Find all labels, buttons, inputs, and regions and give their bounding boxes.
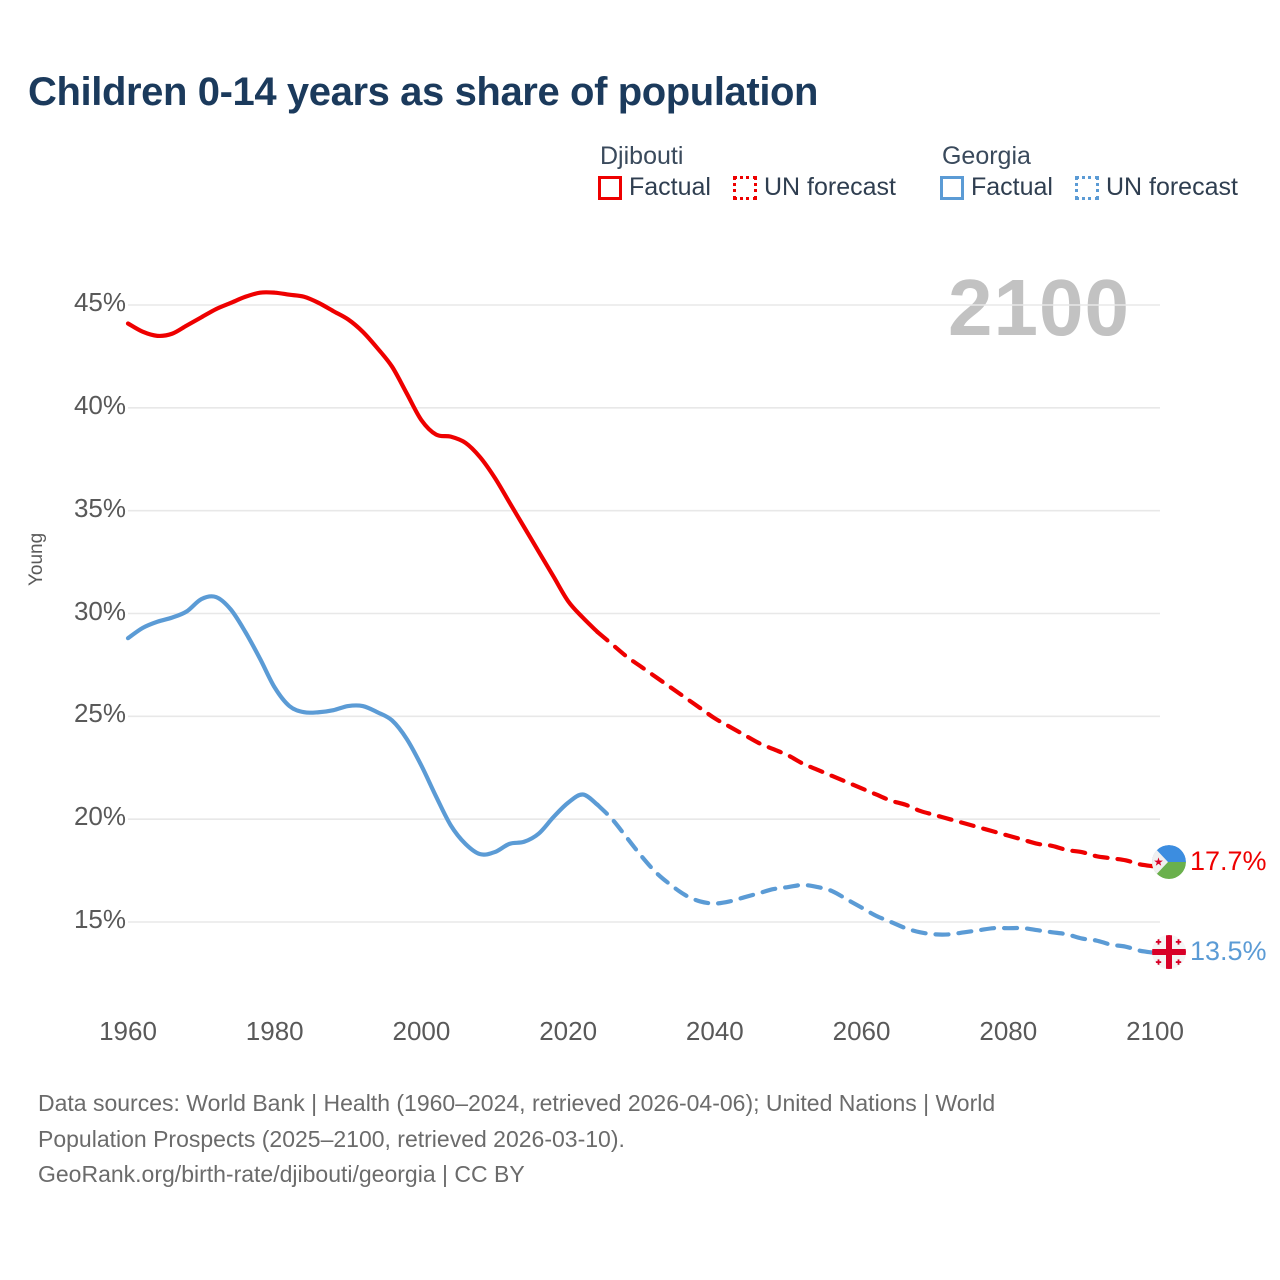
footer-sources: Data sources: World Bank | Health (1960–… xyxy=(38,1086,1178,1193)
series-lines xyxy=(128,292,1155,953)
footer-line-3[interactable]: GeoRank.org/birth-rate/djibouti/georgia … xyxy=(38,1157,1178,1193)
end-label-georgia: 13.5% xyxy=(1190,936,1267,967)
x-axis-tick-label: 2080 xyxy=(979,1016,1037,1047)
djibouti-flag-icon xyxy=(1152,845,1186,879)
y-axis-tick-label: 15% xyxy=(74,904,126,935)
y-axis-tick-label: 40% xyxy=(74,390,126,421)
x-axis-tick-label: 1980 xyxy=(246,1016,304,1047)
line-djibouti-factual xyxy=(128,292,597,632)
line-georgia-forecast xyxy=(597,805,1155,953)
x-axis-tick-label: 2000 xyxy=(393,1016,451,1047)
y-axis-tick-label: 30% xyxy=(74,596,126,627)
footer-line-2: Population Prospects (2025–2100, retriev… xyxy=(38,1122,1178,1158)
y-axis-tick-label: 45% xyxy=(74,287,126,318)
x-axis-tick-label: 2060 xyxy=(833,1016,891,1047)
x-axis-tick-label: 2100 xyxy=(1126,1016,1184,1047)
line-georgia-factual xyxy=(128,596,597,854)
footer-line-1: Data sources: World Bank | Health (1960–… xyxy=(38,1086,1178,1122)
x-axis-tick-label: 1960 xyxy=(99,1016,157,1047)
georgia-flag-icon xyxy=(1152,935,1186,969)
line-djibouti-forecast xyxy=(597,632,1155,866)
y-axis-tick-label: 20% xyxy=(74,801,126,832)
end-label-djibouti: 17.7% xyxy=(1190,846,1267,877)
x-axis-tick-label: 2020 xyxy=(539,1016,597,1047)
y-axis-tick-label: 25% xyxy=(74,698,126,729)
chart-page: Children 0-14 years as share of populati… xyxy=(0,0,1280,1280)
x-axis-tick-label: 2040 xyxy=(686,1016,744,1047)
gridlines xyxy=(128,305,1160,922)
y-axis-tick-label: 35% xyxy=(74,493,126,524)
